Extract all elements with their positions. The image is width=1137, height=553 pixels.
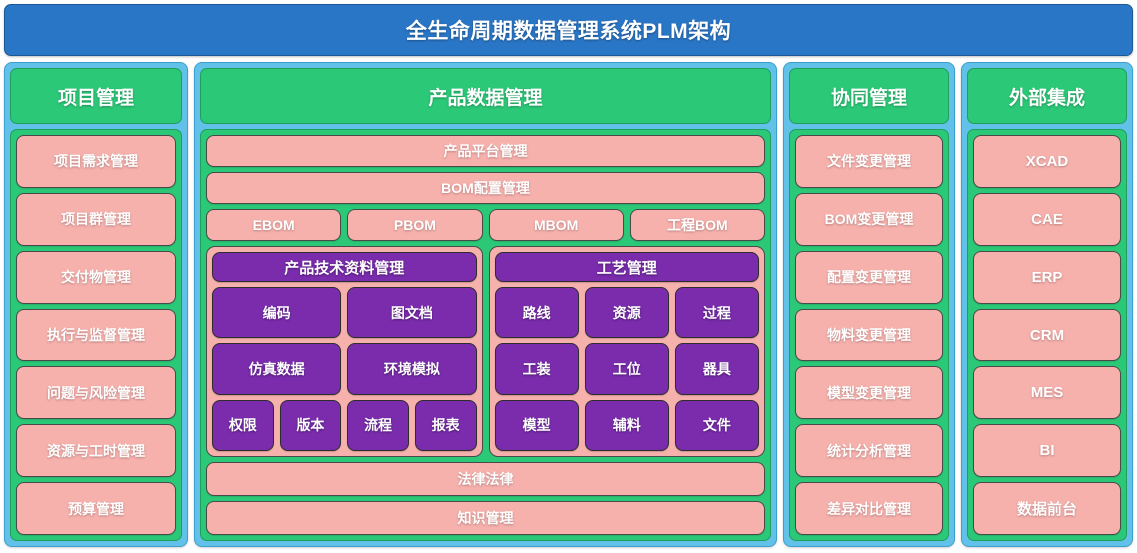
list-item[interactable]: MES — [973, 366, 1121, 419]
list-item[interactable]: 文件 — [675, 400, 759, 451]
column-project-management: 项目管理 项目需求管理 项目群管理 交付物管理 执行与监督管理 问题与风险管理 … — [4, 62, 188, 547]
block-process-management: 工艺管理 路线 资源 过程 工装 工位 器具 — [489, 246, 766, 457]
list-item[interactable]: BI — [973, 424, 1121, 477]
list-item[interactable]: 法律法律 — [206, 462, 765, 496]
list-item[interactable]: 环境模拟 — [347, 343, 476, 394]
list-item[interactable]: 路线 — [495, 287, 579, 338]
column-external-integration: 外部集成 XCAD CAE ERP CRM MES BI 数据前台 — [961, 62, 1133, 547]
list-item[interactable]: 产品平台管理 — [206, 135, 765, 167]
diagram-title-bar: 全生命周期数据管理系统PLM架构 — [4, 4, 1133, 56]
list-item[interactable]: CRM — [973, 309, 1121, 362]
bom-row: EBOM PBOM MBOM 工程BOM — [206, 209, 765, 241]
list-item[interactable]: 执行与监督管理 — [16, 309, 176, 362]
list-item[interactable]: 过程 — [675, 287, 759, 338]
list-item[interactable]: ERP — [973, 251, 1121, 304]
column-header-external-integration: 外部集成 — [967, 68, 1127, 124]
list-item[interactable]: 问题与风险管理 — [16, 366, 176, 419]
list-item[interactable]: 工程BOM — [630, 209, 765, 241]
pdm-content: 产品平台管理 BOM配置管理 EBOM PBOM MBOM 工程BOM 产品技术… — [206, 135, 765, 535]
column-header-project-management: 项目管理 — [10, 68, 182, 124]
column-body-product-data-management: 产品平台管理 BOM配置管理 EBOM PBOM MBOM 工程BOM 产品技术… — [200, 129, 771, 541]
column-body-collaboration-management: 文件变更管理 BOM变更管理 配置变更管理 物料变更管理 模型变更管理 统计分析… — [789, 129, 949, 541]
list-item[interactable]: 工位 — [585, 343, 669, 394]
list-item[interactable]: 物料变更管理 — [795, 309, 943, 362]
list-item[interactable]: EBOM — [206, 209, 341, 241]
list-item[interactable]: 文件变更管理 — [795, 135, 943, 188]
list-item[interactable]: 交付物管理 — [16, 251, 176, 304]
list-item[interactable]: 资源与工时管理 — [16, 424, 176, 477]
block-header: 工艺管理 — [495, 252, 760, 282]
list-item[interactable]: MBOM — [489, 209, 624, 241]
list-item[interactable]: 编码 — [212, 287, 341, 338]
diagram-title: 全生命周期数据管理系统PLM架构 — [406, 15, 731, 45]
list-item[interactable]: PBOM — [347, 209, 482, 241]
list-item[interactable]: 模型 — [495, 400, 579, 451]
column-product-data-management: 产品数据管理 产品平台管理 BOM配置管理 EBOM PBOM MBOM 工程B… — [194, 62, 777, 547]
list-item[interactable]: 器具 — [675, 343, 759, 394]
list-item[interactable]: 资源 — [585, 287, 669, 338]
list-item[interactable]: 配置变更管理 — [795, 251, 943, 304]
list-item[interactable]: 仿真数据 — [212, 343, 341, 394]
block-row: 编码 图文档 — [212, 287, 477, 338]
list-item[interactable]: 模型变更管理 — [795, 366, 943, 419]
block-header: 产品技术资料管理 — [212, 252, 477, 282]
list-item[interactable]: 知识管理 — [206, 501, 765, 535]
list-item[interactable]: BOM变更管理 — [795, 193, 943, 246]
list-item[interactable]: 工装 — [495, 343, 579, 394]
list-item[interactable]: 权限 — [212, 400, 274, 451]
column-header-product-data-management: 产品数据管理 — [200, 68, 771, 124]
column-body-project-management: 项目需求管理 项目群管理 交付物管理 执行与监督管理 问题与风险管理 资源与工时… — [10, 129, 182, 541]
list-item[interactable]: 项目群管理 — [16, 193, 176, 246]
list-item[interactable]: 流程 — [347, 400, 409, 451]
list-item[interactable]: 图文档 — [347, 287, 476, 338]
pdm-bottom-rows: 法律法律 知识管理 — [206, 462, 765, 535]
list-item[interactable]: CAE — [973, 193, 1121, 246]
list-item[interactable]: BOM配置管理 — [206, 172, 765, 204]
block-technical-data: 产品技术资料管理 编码 图文档 仿真数据 环境模拟 权限 — [206, 246, 483, 457]
plm-architecture-diagram: 全生命周期数据管理系统PLM架构 项目管理 项目需求管理 项目群管理 交付物管理… — [0, 0, 1137, 553]
column-title: 项目管理 — [58, 83, 134, 110]
column-collaboration-management: 协同管理 文件变更管理 BOM变更管理 配置变更管理 物料变更管理 模型变更管理… — [783, 62, 955, 547]
block-row: 仿真数据 环境模拟 — [212, 343, 477, 394]
list-item[interactable]: 辅料 — [585, 400, 669, 451]
block-row: 工装 工位 器具 — [495, 343, 760, 394]
columns-container: 项目管理 项目需求管理 项目群管理 交付物管理 执行与监督管理 问题与风险管理 … — [4, 62, 1133, 547]
list-item[interactable]: 差异对比管理 — [795, 482, 943, 535]
list-item[interactable]: 统计分析管理 — [795, 424, 943, 477]
list-item[interactable]: 数据前台 — [973, 482, 1121, 535]
column-header-collaboration-management: 协同管理 — [789, 68, 949, 124]
block-row: 权限 版本 流程 报表 — [212, 400, 477, 451]
column-title: 外部集成 — [1009, 83, 1085, 110]
column-title: 协同管理 — [831, 83, 907, 110]
block-row: 路线 资源 过程 — [495, 287, 760, 338]
list-item[interactable]: 报表 — [415, 400, 477, 451]
column-body-external-integration: XCAD CAE ERP CRM MES BI 数据前台 — [967, 129, 1127, 541]
column-title: 产品数据管理 — [428, 83, 542, 110]
purple-blocks-zone: 产品技术资料管理 编码 图文档 仿真数据 环境模拟 权限 — [206, 246, 765, 457]
list-item[interactable]: XCAD — [973, 135, 1121, 188]
list-item[interactable]: 版本 — [280, 400, 342, 451]
block-row: 模型 辅料 文件 — [495, 400, 760, 451]
list-item[interactable]: 项目需求管理 — [16, 135, 176, 188]
list-item[interactable]: 预算管理 — [16, 482, 176, 535]
